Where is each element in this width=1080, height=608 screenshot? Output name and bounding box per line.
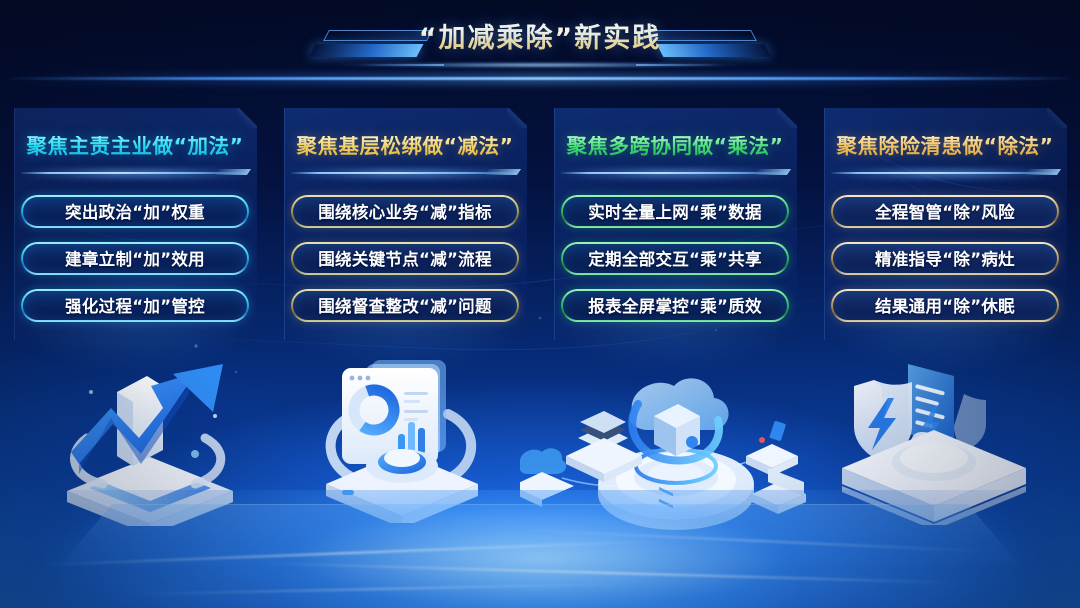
- header-divider: [21, 170, 249, 177]
- pillar-item-1[interactable]: 全程智管“除”风险: [831, 195, 1059, 228]
- pillar-item-list: 突出政治“加”权重 建章立制“加”效用 强化过程“加”管控: [12, 195, 258, 322]
- slide-title-bar: “加减乘除”新实践: [0, 12, 1080, 64]
- pillar-heading: 聚焦主责主业做“加法”: [12, 136, 258, 157]
- header-divider: [831, 170, 1059, 177]
- pillar-heading: 聚焦除险清患做“除法”: [822, 136, 1068, 157]
- slide-canvas: “加减乘除”新实践 聚焦主责主业做“加法” 突出政治“加”权重 建章立制“加”效…: [0, 0, 1080, 608]
- pillar-addition: 聚焦主责主业做“加法” 突出政治“加”权重 建章立制“加”效用 强化过程“加”管…: [0, 108, 270, 344]
- page-title: “加减乘除”新实践: [0, 16, 1080, 55]
- title-glow: [340, 62, 740, 68]
- pillar-heading: 聚焦多跨协同做“乘法”: [552, 136, 798, 157]
- stage-floor: [0, 490, 1080, 608]
- pillar-item-1[interactable]: 实时全量上网“乘”数据: [561, 195, 789, 228]
- pillar-item-list: 全程智管“除”风险 精准指导“除”病灶 结果通用“除”休眠: [822, 195, 1068, 322]
- header-divider: [561, 170, 789, 177]
- pillar-item-2[interactable]: 定期全部交互“乘”共享: [561, 242, 789, 275]
- pillar-multiplication: 聚焦多跨协同做“乘法” 实时全量上网“乘”数据 定期全部交互“乘”共享 报表全屏…: [540, 108, 810, 344]
- pillar-item-2[interactable]: 精准指导“除”病灶: [831, 242, 1059, 275]
- pillar-division: 聚焦除险清患做“除法” 全程智管“除”风险 精准指导“除”病灶 结果通用“除”休…: [810, 108, 1080, 344]
- pillar-header: 聚焦除险清患做“除法”: [822, 108, 1068, 157]
- pillar-item-1[interactable]: 突出政治“加”权重: [21, 195, 249, 228]
- pillar-header: 聚焦主责主业做“加法”: [12, 108, 258, 157]
- pillars-row: 聚焦主责主业做“加法” 突出政治“加”权重 建章立制“加”效用 强化过程“加”管…: [0, 108, 1080, 348]
- pillar-item-2[interactable]: 建章立制“加”效用: [21, 242, 249, 275]
- pillar-heading: 聚焦基层松绑做“减法”: [282, 136, 528, 157]
- pillar-header: 聚焦多跨协同做“乘法”: [552, 108, 798, 157]
- header-divider: [291, 170, 519, 177]
- pillar-item-3[interactable]: 强化过程“加”管控: [21, 289, 249, 322]
- pillar-header: 聚焦基层松绑做“减法”: [282, 108, 528, 157]
- pillar-item-list: 实时全量上网“乘”数据 定期全部交互“乘”共享 报表全屏掌控“乘”质效: [552, 195, 798, 322]
- pillar-item-1[interactable]: 围绕核心业务“减”指标: [291, 195, 519, 228]
- pillar-item-3[interactable]: 围绕督查整改“减”问题: [291, 289, 519, 322]
- pillar-item-3[interactable]: 报表全屏掌控“乘”质效: [561, 289, 789, 322]
- header-underline: [0, 77, 1080, 80]
- pillar-item-3[interactable]: 结果通用“除”休眠: [831, 289, 1059, 322]
- pillar-item-2[interactable]: 围绕关键节点“减”流程: [291, 242, 519, 275]
- pillar-item-list: 围绕核心业务“减”指标 围绕关键节点“减”流程 围绕督查整改“减”问题: [282, 195, 528, 322]
- pillar-subtraction: 聚焦基层松绑做“减法” 围绕核心业务“减”指标 围绕关键节点“减”流程 围绕督查…: [270, 108, 540, 344]
